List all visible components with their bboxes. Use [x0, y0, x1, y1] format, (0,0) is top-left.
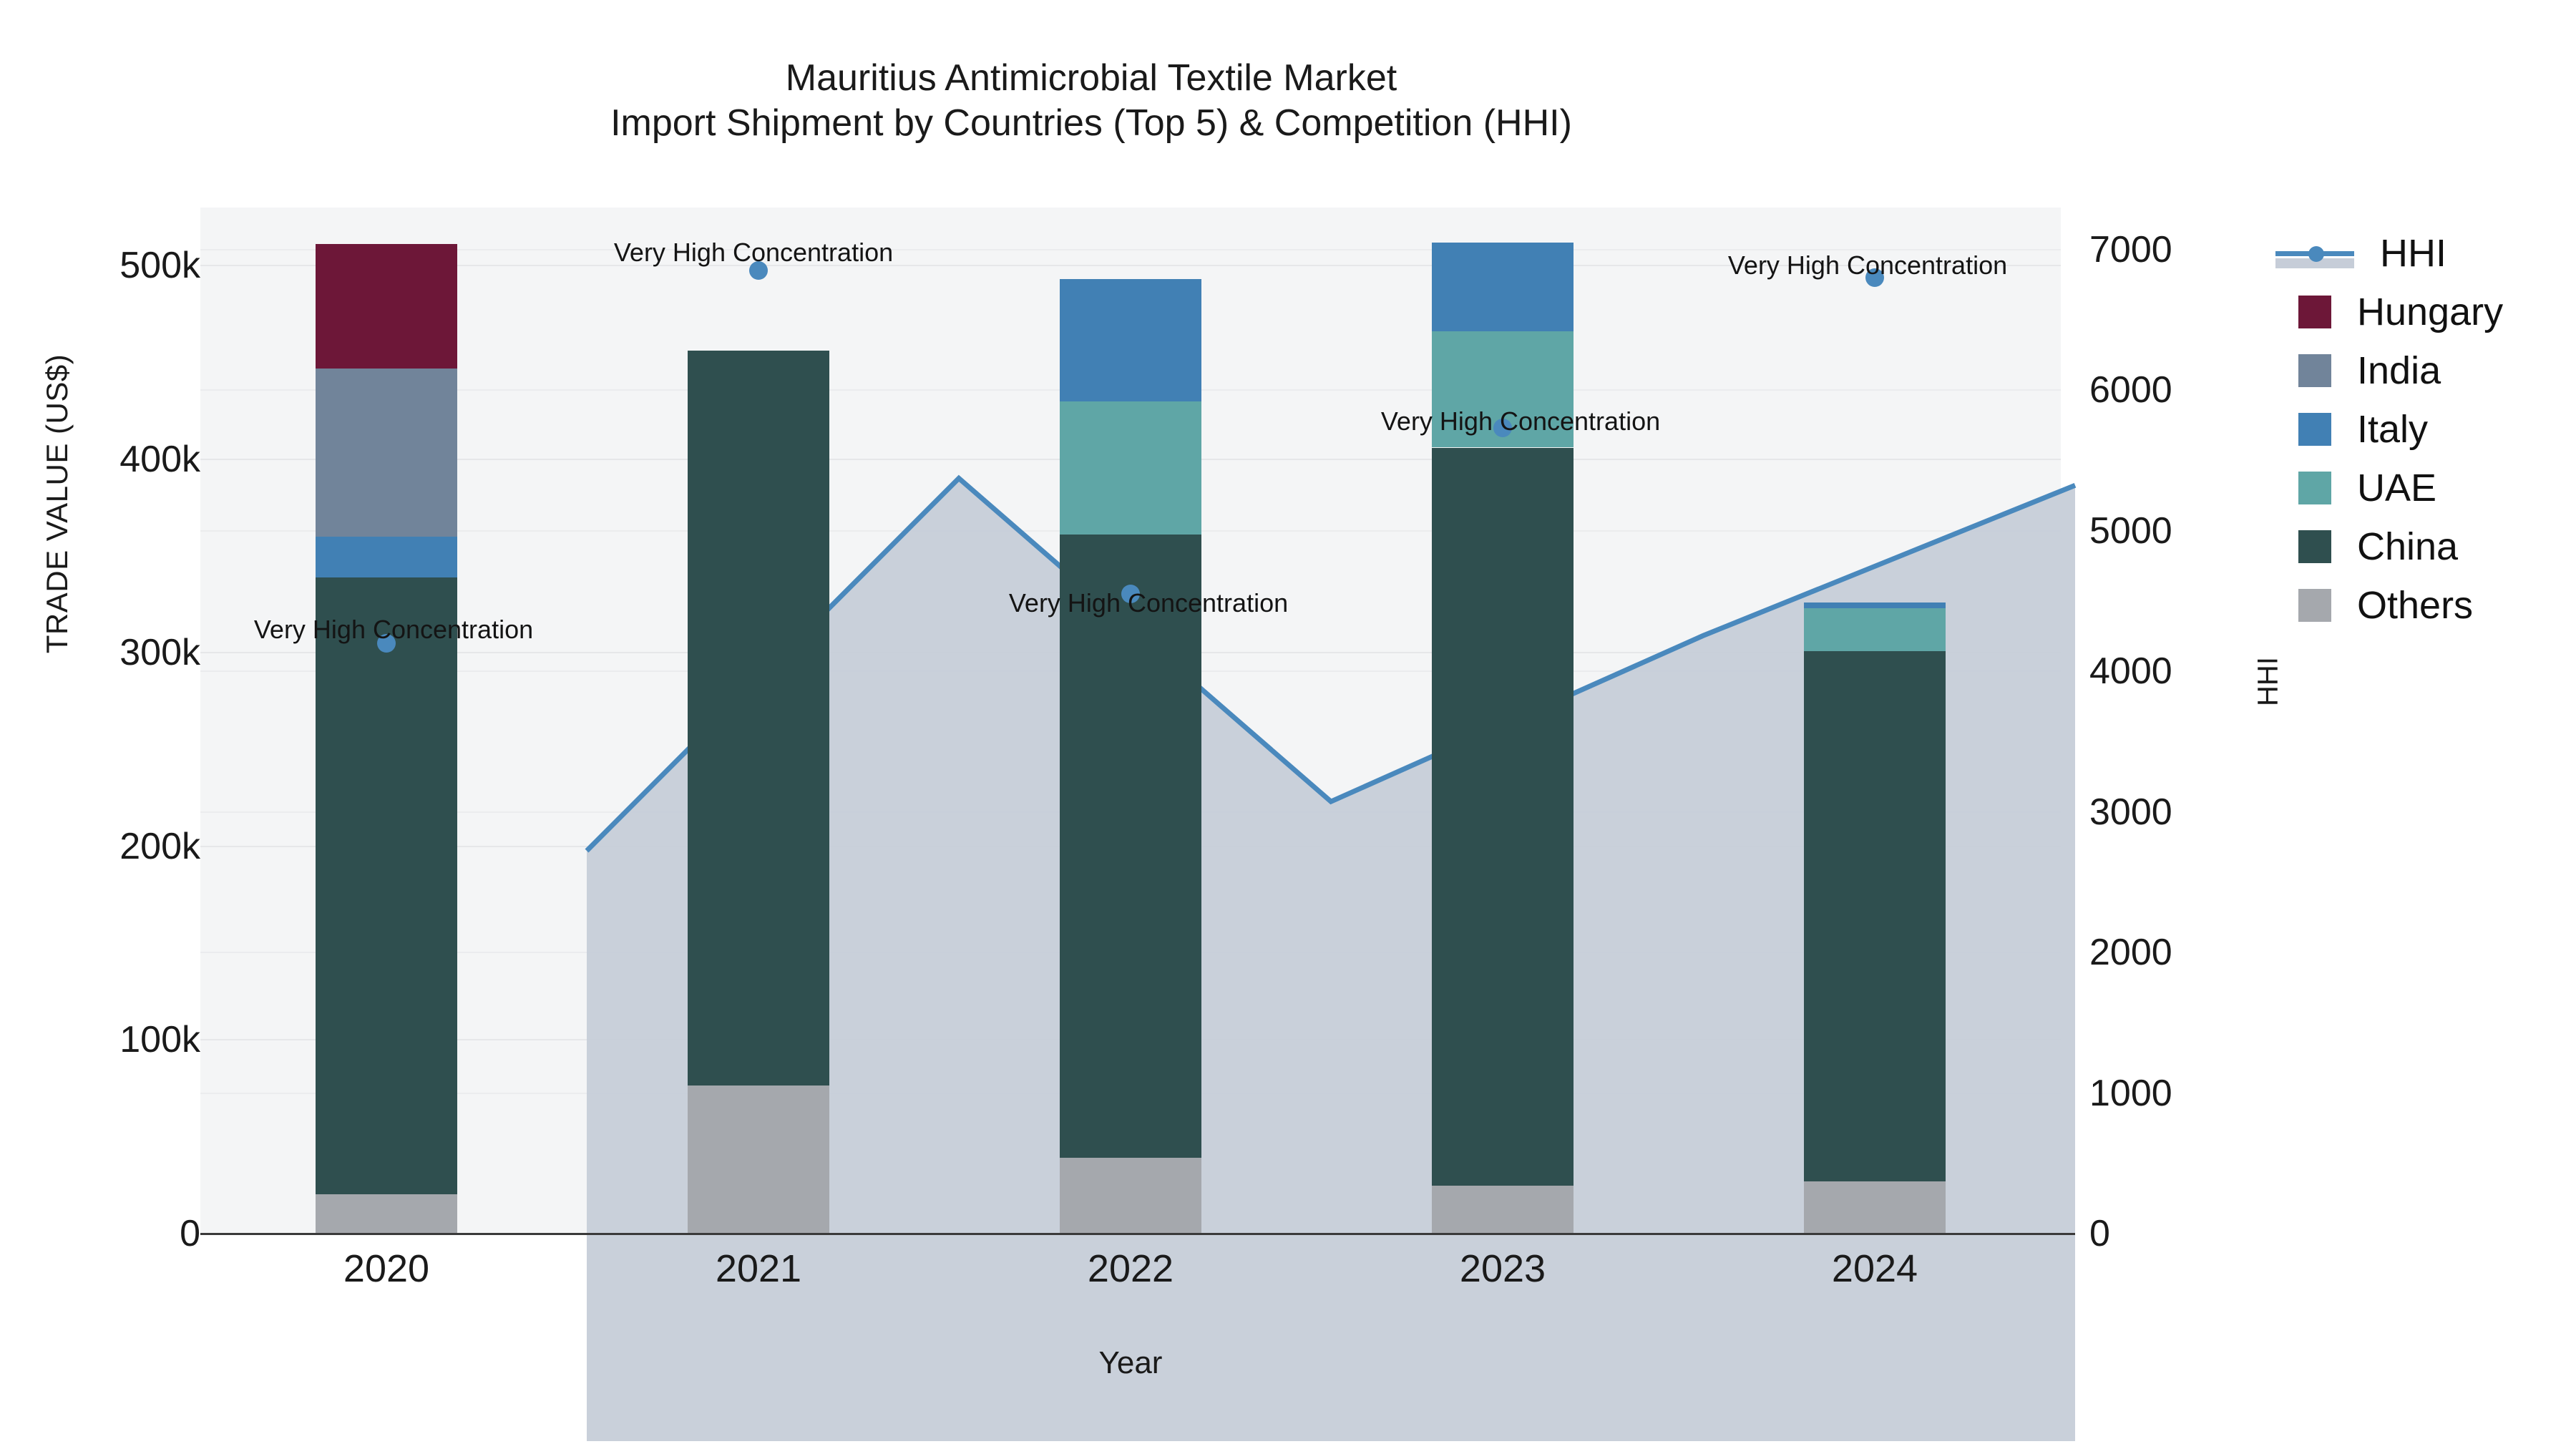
legend-swatch-india — [2298, 354, 2331, 387]
annotation-2021: Very High Concentration — [614, 238, 893, 268]
legend-item-hungary[interactable]: Hungary — [2275, 288, 2576, 336]
plot-area: Very High ConcentrationVery High Concent… — [200, 208, 2061, 1234]
x-tick-2024: 2024 — [1832, 1246, 1918, 1291]
annotation-2022: Very High Concentration — [1009, 588, 1288, 618]
y-tick-left-300k: 300k — [119, 631, 200, 674]
bar-segment-others-2021[interactable] — [688, 1085, 829, 1234]
x-tick-2020: 2020 — [343, 1246, 429, 1291]
legend-swatch-hungary — [2298, 296, 2331, 328]
y-tick-left-400k: 400k — [119, 438, 200, 481]
bar-segment-others-2020[interactable] — [316, 1194, 457, 1234]
legend-swatch-italy — [2298, 413, 2331, 446]
y-tick-right-5000: 5000 — [2089, 509, 2172, 552]
legend-label-china: China — [2357, 527, 2458, 566]
bar-segment-italy-2024[interactable] — [1804, 602, 1946, 608]
y-tick-left-100k: 100k — [119, 1018, 200, 1061]
y-tick-right-7000: 7000 — [2089, 228, 2172, 271]
bar-segment-uae-2024[interactable] — [1804, 608, 1946, 651]
bar-segment-uae-2022[interactable] — [1060, 401, 1201, 535]
y-tick-left-200k: 200k — [119, 825, 200, 868]
legend-label-hhi: HHI — [2380, 234, 2446, 273]
x-axis-line — [200, 1233, 2075, 1235]
y-tick-right-1000: 1000 — [2089, 1072, 2172, 1115]
legend-label-uae: UAE — [2357, 469, 2436, 507]
y-tick-left-500k: 500k — [119, 244, 200, 287]
chart-title-line2: Import Shipment by Countries (Top 5) & C… — [0, 101, 2182, 146]
y-axis-left-label: TRADE VALUE (US$) — [40, 275, 74, 733]
legend-item-others[interactable]: Others — [2275, 581, 2576, 630]
y-tick-right-3000: 3000 — [2089, 791, 2172, 834]
annotation-2020: Very High Concentration — [254, 615, 533, 645]
chart-title-line1: Mauritius Antimicrobial Textile Market — [0, 56, 2182, 101]
legend-item-hhi[interactable]: HHI — [2275, 229, 2576, 278]
bar-segment-others-2024[interactable] — [1804, 1181, 1946, 1234]
x-axis-label: Year — [200, 1345, 2061, 1381]
legend-swatch-china — [2298, 530, 2331, 563]
bar-segment-china-2021[interactable] — [688, 351, 829, 1085]
chart-title: Mauritius Antimicrobial Textile Market I… — [0, 56, 2182, 147]
bar-segment-china-2022[interactable] — [1060, 535, 1201, 1158]
chart-root: Mauritius Antimicrobial Textile Market I… — [0, 0, 2576, 1449]
y-tick-left-0: 0 — [180, 1212, 200, 1255]
y-tick-right-0: 0 — [2089, 1212, 2110, 1255]
legend-line-icon — [2275, 237, 2354, 270]
legend-item-italy[interactable]: Italy — [2275, 405, 2576, 454]
x-tick-2021: 2021 — [716, 1246, 801, 1291]
bar-segment-italy-2020[interactable] — [316, 537, 457, 577]
bar-segment-italy-2023[interactable] — [1432, 243, 1574, 331]
y-tick-right-4000: 4000 — [2089, 650, 2172, 693]
legend-item-uae[interactable]: UAE — [2275, 464, 2576, 512]
bar-segment-china-2024[interactable] — [1804, 651, 1946, 1181]
annotation-2023: Very High Concentration — [1381, 406, 1660, 436]
bar-segment-others-2023[interactable] — [1432, 1186, 1574, 1234]
annotation-2024: Very High Concentration — [1728, 250, 2007, 280]
legend-label-india: India — [2357, 351, 2441, 390]
legend-label-italy: Italy — [2357, 410, 2428, 449]
x-tick-2023: 2023 — [1460, 1246, 1546, 1291]
bar-segment-china-2020[interactable] — [316, 577, 457, 1194]
legend: HHIHungaryIndiaItalyUAEChinaOthers — [2275, 229, 2576, 640]
legend-label-hungary: Hungary — [2357, 293, 2503, 331]
y-tick-right-2000: 2000 — [2089, 931, 2172, 974]
bar-segment-hungary-2020[interactable] — [316, 244, 457, 368]
bar-segment-india-2020[interactable] — [316, 369, 457, 537]
hhi-series — [401, 415, 2261, 1441]
x-tick-2022: 2022 — [1088, 1246, 1174, 1291]
legend-item-china[interactable]: China — [2275, 522, 2576, 571]
legend-swatch-others — [2298, 589, 2331, 622]
bar-segment-china-2023[interactable] — [1432, 448, 1574, 1186]
bar-segment-italy-2022[interactable] — [1060, 279, 1201, 401]
y-tick-right-6000: 6000 — [2089, 369, 2172, 411]
legend-item-india[interactable]: India — [2275, 346, 2576, 395]
legend-label-others: Others — [2357, 586, 2473, 625]
bar-segment-others-2022[interactable] — [1060, 1158, 1201, 1234]
legend-swatch-uae — [2298, 472, 2331, 504]
